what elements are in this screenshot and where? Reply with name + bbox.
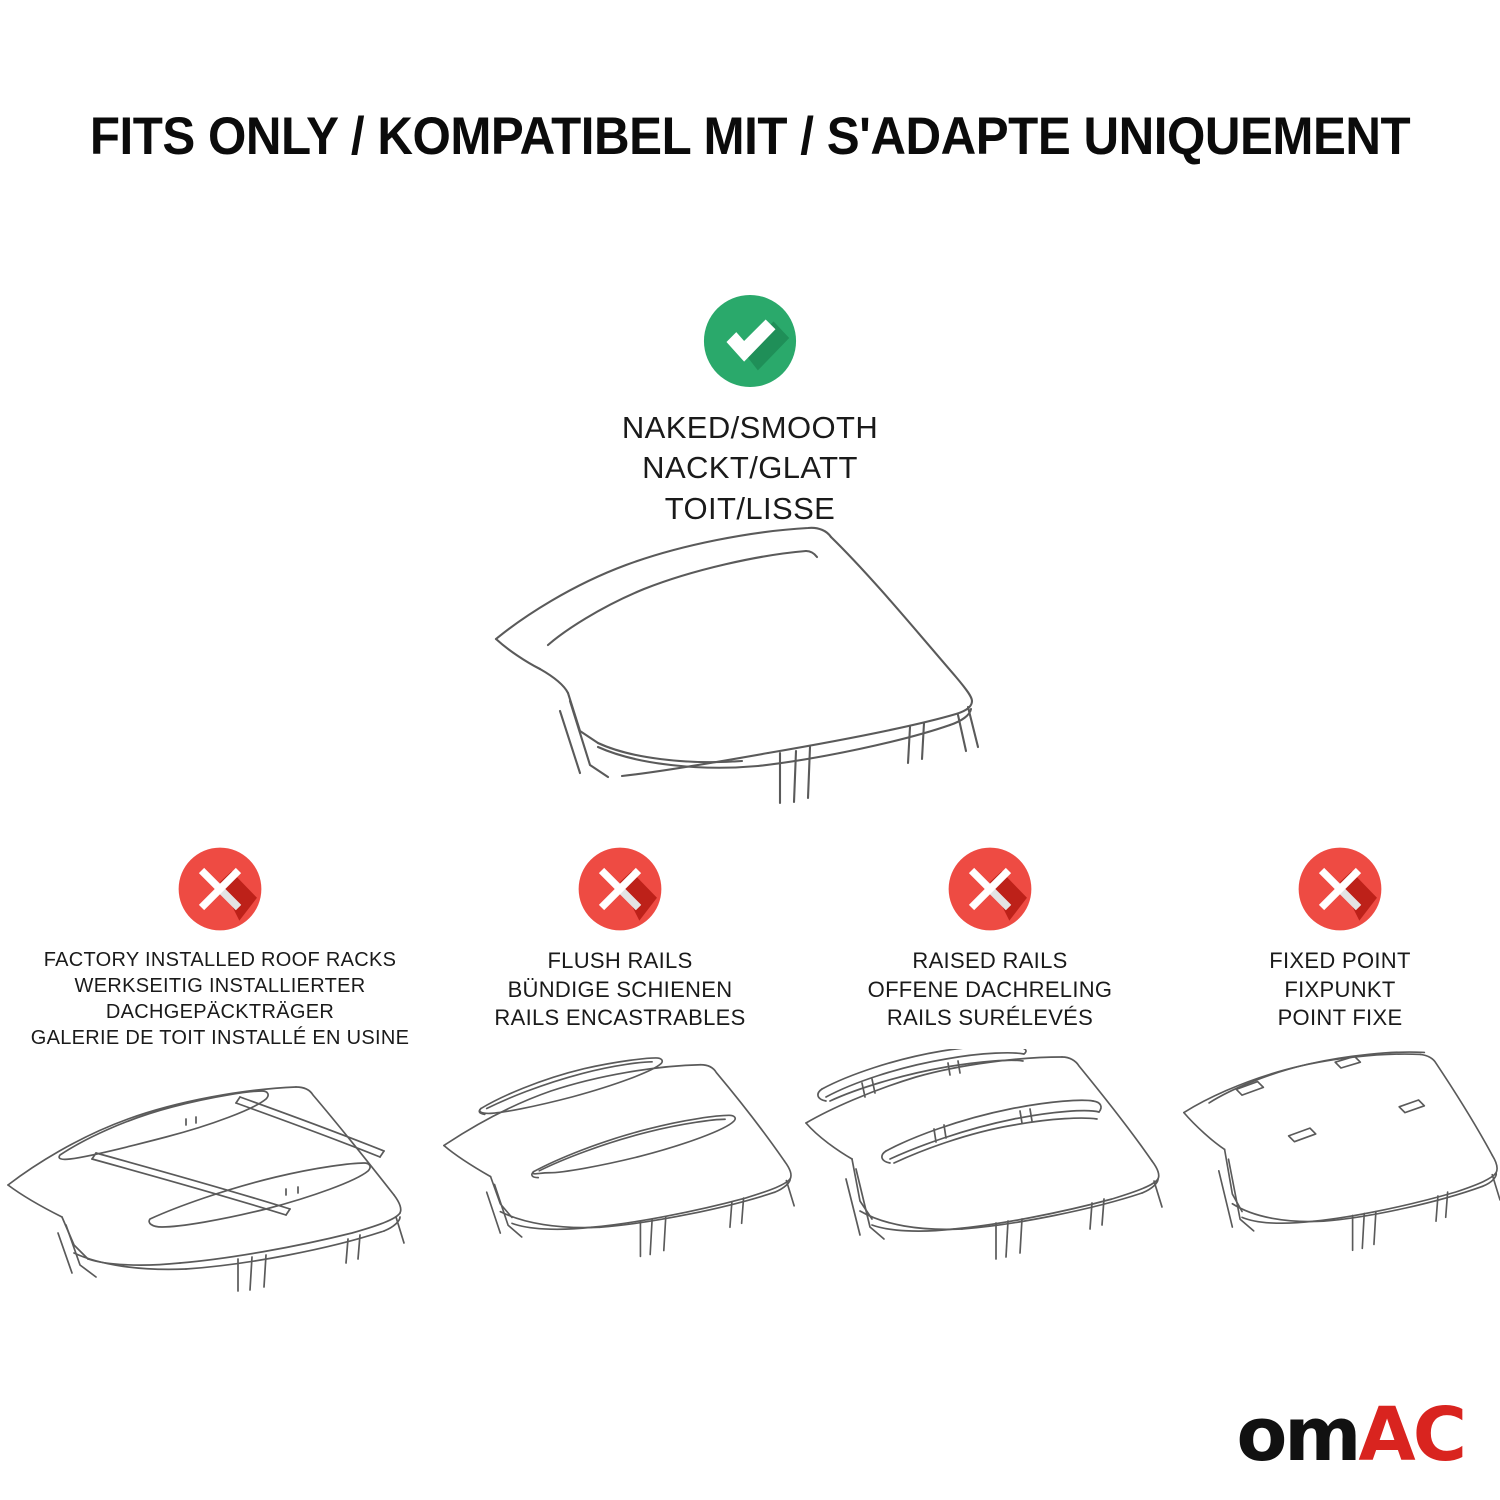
cross-circle-icon [1296, 845, 1384, 933]
incompatible-caption: FLUSH RAILS BÜNDIGE SCHIENEN RAILS ENCAS… [440, 947, 800, 1033]
car-roof-raised-rails-illustration [800, 1049, 1180, 1279]
incompatible-caption: FIXED POINT FIXPUNKT POINT FIXE [1180, 947, 1500, 1033]
caption-line-de: OFFENE DACHRELING [800, 976, 1180, 1005]
page-title: FITS ONLY / KOMPATIBEL MIT / S'ADAPTE UN… [53, 106, 1448, 167]
caption-line-de-1: WERKSEITIG INSTALLIERTER [0, 973, 440, 999]
car-roof-naked-smooth-illustration [480, 515, 1020, 805]
incompatible-roof-type-raised-rails: RAISED RAILS OFFENE DACHRELING RAILS SUR… [800, 845, 1180, 1279]
cross-circle-icon [946, 845, 1034, 933]
incompatible-roof-types-row: FACTORY INSTALLED ROOF RACKS WERKSEITIG … [0, 845, 1500, 1297]
caption-line-fr: GALERIE DE TOIT INSTALLÉ EN USINE [0, 1025, 440, 1051]
omac-logo: omAC [1236, 1398, 1464, 1472]
incompatible-roof-type-fixed-point: FIXED POINT FIXPUNKT POINT FIXE [1180, 845, 1500, 1279]
caption-line-de: BÜNDIGE SCHIENEN [440, 976, 800, 1005]
caption-line-de: NACKT/GLATT [500, 448, 1000, 488]
car-roof-factory-roof-racks-illustration [0, 1067, 440, 1297]
caption-line-fr: RAILS SURÉLEVÉS [800, 1004, 1180, 1033]
incompatible-roof-type-factory-roof-racks: FACTORY INSTALLED ROOF RACKS WERKSEITIG … [0, 845, 440, 1297]
caption-line-en: FACTORY INSTALLED ROOF RACKS [0, 947, 440, 973]
caption-line-fr: RAILS ENCASTRABLES [440, 1004, 800, 1033]
caption-line-de-2: DACHGEPÄCKTRÄGER [0, 999, 440, 1025]
caption-line-en: NAKED/SMOOTH [500, 408, 1000, 448]
caption-line-en: RAISED RAILS [800, 947, 1180, 976]
incompatible-caption: FACTORY INSTALLED ROOF RACKS WERKSEITIG … [0, 947, 440, 1051]
car-roof-fixed-point-illustration [1180, 1049, 1500, 1279]
caption-line-de: FIXPUNKT [1180, 976, 1500, 1005]
logo-text-dark: om [1236, 1392, 1358, 1478]
logo-text-red: AC [1358, 1392, 1464, 1478]
caption-line-fr: POINT FIXE [1180, 1004, 1500, 1033]
cross-circle-icon [576, 845, 664, 933]
check-circle-icon [701, 292, 799, 390]
incompatible-caption: RAISED RAILS OFFENE DACHRELING RAILS SUR… [800, 947, 1180, 1033]
car-roof-flush-rails-illustration [440, 1049, 800, 1279]
compatible-roof-type: NAKED/SMOOTH NACKT/GLATT TOIT/LISSE [500, 292, 1000, 529]
caption-line-en: FLUSH RAILS [440, 947, 800, 976]
caption-line-en: FIXED POINT [1180, 947, 1500, 976]
cross-circle-icon [176, 845, 264, 933]
incompatible-roof-type-flush-rails: FLUSH RAILS BÜNDIGE SCHIENEN RAILS ENCAS… [440, 845, 800, 1279]
compatible-caption: NAKED/SMOOTH NACKT/GLATT TOIT/LISSE [500, 408, 1000, 529]
